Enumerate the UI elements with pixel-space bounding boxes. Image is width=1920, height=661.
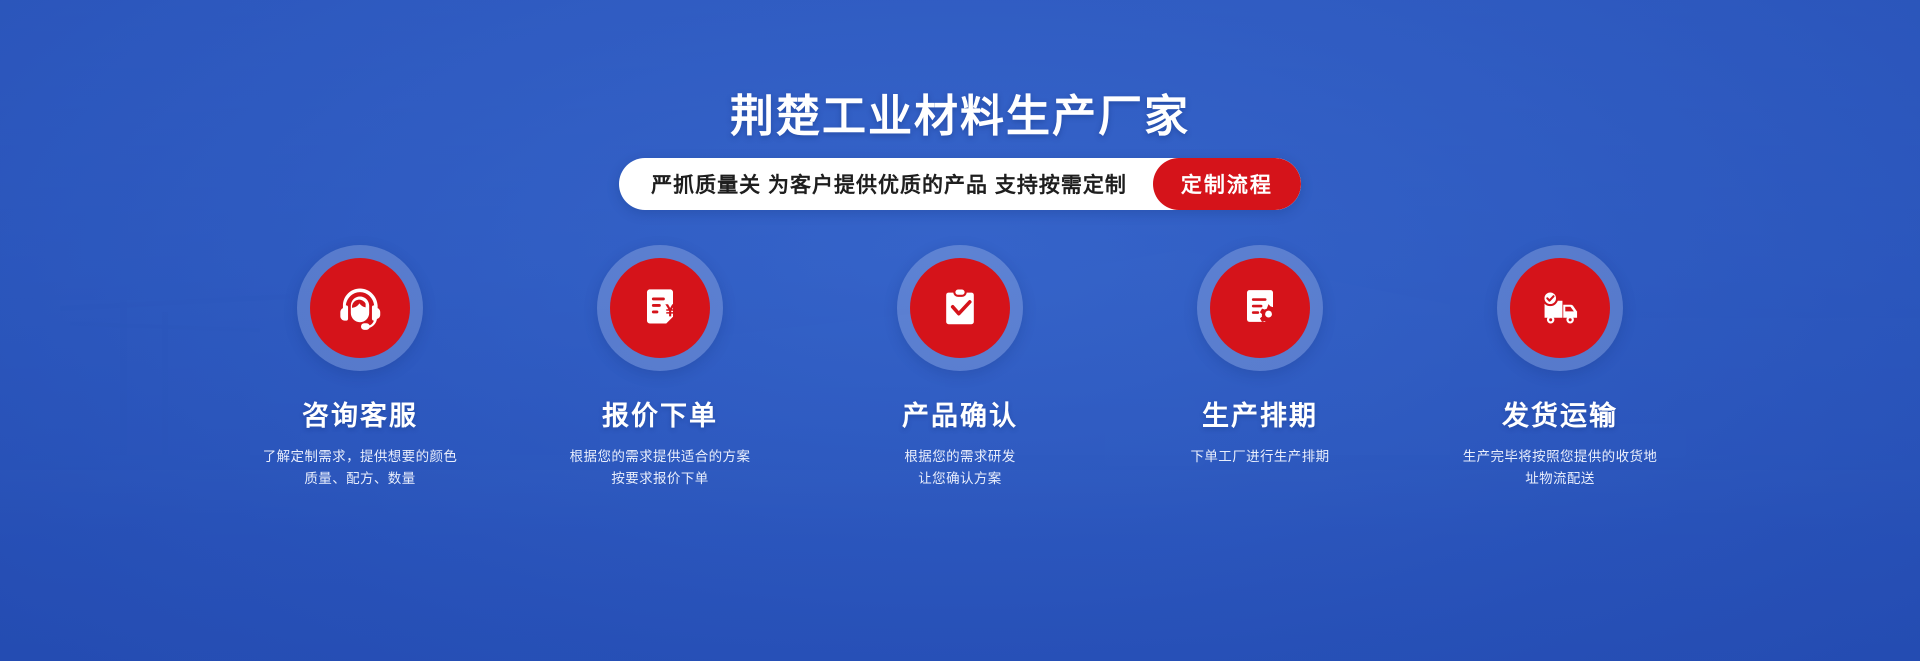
icon-ring	[1497, 245, 1623, 371]
icon-disc	[1210, 258, 1310, 358]
step-description-line: 下单工厂进行生产排期	[1191, 446, 1330, 468]
icon-ring	[597, 245, 723, 371]
process-step[interactable]: 生产排期 下单工厂进行生产排期	[1130, 245, 1390, 468]
process-step[interactable]: 咨询客服 了解定制需求，提供想要的颜色 质量、配方、数量	[230, 245, 490, 490]
process-step[interactable]: 报价下单 根据您的需求提供适合的方案 按要求报价下单	[530, 245, 790, 490]
process-step[interactable]: 产品确认 根据您的需求研发 让您确认方案	[830, 245, 1090, 490]
step-description-line: 质量、配方、数量	[263, 468, 458, 490]
step-description-line: 根据您的需求提供适合的方案	[570, 446, 751, 468]
icon-ring	[1197, 245, 1323, 371]
step-description-line: 了解定制需求，提供想要的颜色	[263, 446, 458, 468]
icon-disc	[610, 258, 710, 358]
process-steps: 咨询客服 了解定制需求，提供想要的颜色 质量、配方、数量	[230, 245, 1690, 490]
step-description: 下单工厂进行生产排期	[1191, 446, 1330, 468]
invoice-yuan-icon	[634, 282, 686, 334]
step-title: 咨询客服	[302, 394, 418, 433]
icon-ring	[297, 245, 423, 371]
hero-banner: 荆楚工业材料生产厂家 严抓质量关 为客户提供优质的产品 支持按需定制 定制流程	[0, 0, 1920, 661]
slogan-text: 严抓质量关 为客户提供优质的产品 支持按需定制	[619, 158, 1153, 210]
step-description: 根据您的需求研发 让您确认方案	[904, 446, 1015, 490]
step-description-line: 生产完毕将按照您提供的收货地	[1463, 446, 1658, 468]
step-description: 了解定制需求，提供想要的颜色 质量、配方、数量	[263, 446, 458, 490]
step-description-line: 根据您的需求研发	[904, 446, 1015, 468]
clipboard-check-icon	[934, 282, 986, 334]
step-description-line: 址物流配送	[1463, 468, 1658, 490]
step-title: 生产排期	[1202, 394, 1318, 433]
delivery-truck-check-icon	[1534, 282, 1586, 334]
slogan-pill-container: 严抓质量关 为客户提供优质的产品 支持按需定制 定制流程	[0, 158, 1920, 210]
step-description: 生产完毕将按照您提供的收货地 址物流配送	[1463, 446, 1658, 490]
step-title: 报价下单	[602, 394, 718, 433]
step-title: 发货运输	[1502, 394, 1618, 433]
step-description-line: 按要求报价下单	[570, 468, 751, 490]
custom-process-button[interactable]: 定制流程	[1153, 158, 1301, 210]
process-step[interactable]: 发货运输 生产完毕将按照您提供的收货地 址物流配送	[1430, 245, 1690, 490]
icon-ring	[897, 245, 1023, 371]
step-title: 产品确认	[902, 394, 1018, 433]
page-title: 荆楚工业材料生产厂家	[0, 91, 1920, 143]
icon-disc	[310, 258, 410, 358]
headset-support-icon	[334, 282, 386, 334]
icon-disc	[910, 258, 1010, 358]
document-gear-icon	[1234, 282, 1286, 334]
slogan-pill: 严抓质量关 为客户提供优质的产品 支持按需定制 定制流程	[619, 158, 1301, 210]
step-description-line: 让您确认方案	[904, 468, 1015, 490]
icon-disc	[1510, 258, 1610, 358]
step-description: 根据您的需求提供适合的方案 按要求报价下单	[570, 446, 751, 490]
